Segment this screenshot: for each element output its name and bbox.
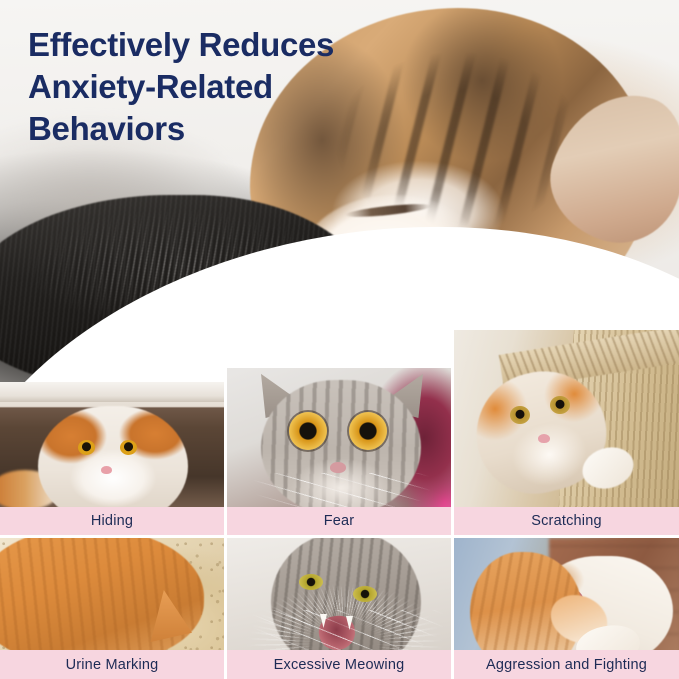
behavior-label-excessive-meowing: Excessive Meowing (227, 650, 451, 679)
behavior-cell-fear[interactable]: Fear (227, 368, 451, 535)
cat-eye-left (289, 412, 327, 450)
cat-eye-right (120, 440, 137, 455)
page-title-line-3: Behaviors (28, 108, 458, 150)
behavior-cell-aggression[interactable]: Aggression and Fighting (454, 538, 679, 679)
behavior-label-urine-marking: Urine Marking (0, 650, 224, 679)
grid-divider-vertical-left (224, 368, 227, 679)
cat-eye-left (299, 574, 323, 590)
page-title: Effectively Reduces Anxiety-Related Beha… (28, 24, 458, 151)
cat-nose (330, 462, 346, 473)
behavior-label-fear: Fear (227, 507, 451, 535)
behavior-grid: Hiding Fear (0, 330, 679, 679)
shelf-edge (0, 382, 224, 402)
behavior-cell-scratching[interactable]: Scratching (454, 330, 679, 535)
behavior-cell-hiding[interactable]: Hiding (0, 382, 224, 535)
behavior-cell-excessive-meowing[interactable]: Excessive Meowing (227, 538, 451, 679)
infographic-poster: Effectively Reduces Anxiety-Related Beha… (0, 0, 679, 679)
behavior-image-scratching (454, 330, 679, 535)
behavior-label-aggression: Aggression and Fighting (454, 650, 679, 679)
cat-body (0, 538, 204, 663)
cat-eye-left (510, 406, 530, 424)
page-title-line-1: Effectively Reduces (28, 24, 458, 66)
grid-divider-vertical-right (451, 330, 454, 679)
cat-eye-right (353, 586, 377, 602)
cat-nose (538, 434, 550, 443)
cat-body (38, 406, 188, 522)
cat-nose (101, 466, 112, 474)
cat-eye-right (550, 396, 570, 414)
grid-divider-horizontal (0, 535, 679, 538)
behavior-label-scratching: Scratching (454, 507, 679, 535)
cat-eye-right (349, 412, 387, 450)
page-title-line-2: Anxiety-Related (28, 66, 458, 108)
behavior-label-hiding: Hiding (0, 507, 224, 535)
behavior-cell-urine-marking[interactable]: Urine Marking (0, 538, 224, 679)
cat-eye-left (78, 440, 95, 455)
